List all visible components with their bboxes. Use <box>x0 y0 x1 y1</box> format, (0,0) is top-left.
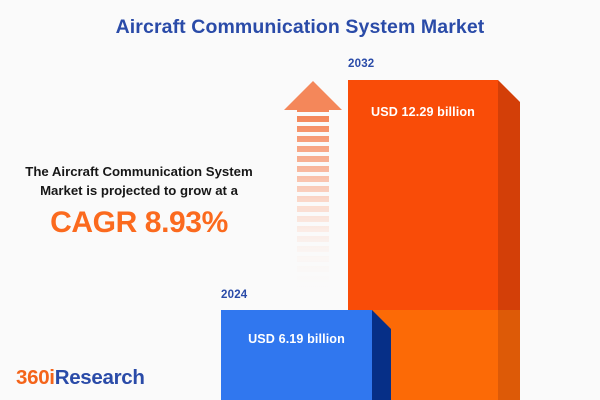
bar-2032-side-face-lower <box>498 310 520 400</box>
bar-2024-side-face <box>372 310 391 400</box>
bar-2032-year-label: 2032 <box>348 58 374 70</box>
bar-2024-year-label: 2024 <box>221 289 247 301</box>
annotation-text: The Aircraft Communication System Market… <box>8 163 270 200</box>
growth-arrow-up-icon <box>283 79 343 292</box>
infographic-canvas: Aircraft Communication System Market The… <box>0 0 600 400</box>
bar-2032-value-label: USD 12.29 billion <box>348 105 498 119</box>
cagr-value: CAGR 8.93% <box>8 207 270 239</box>
bar-2024: 2024 USD 6.19 billion <box>221 310 391 400</box>
brand-logo: 360iResearch <box>16 366 145 390</box>
brand-logo-360i: 360i <box>16 366 55 389</box>
bar-2032-side-face-upper <box>498 80 520 310</box>
bar-2024-value-label: USD 6.19 billion <box>221 332 372 346</box>
brand-logo-research: Research <box>55 366 145 389</box>
bar-2024-front-face <box>221 310 372 400</box>
page-title: Aircraft Communication System Market <box>0 16 600 39</box>
cagr-annotation: The Aircraft Communication System Market… <box>8 163 270 239</box>
